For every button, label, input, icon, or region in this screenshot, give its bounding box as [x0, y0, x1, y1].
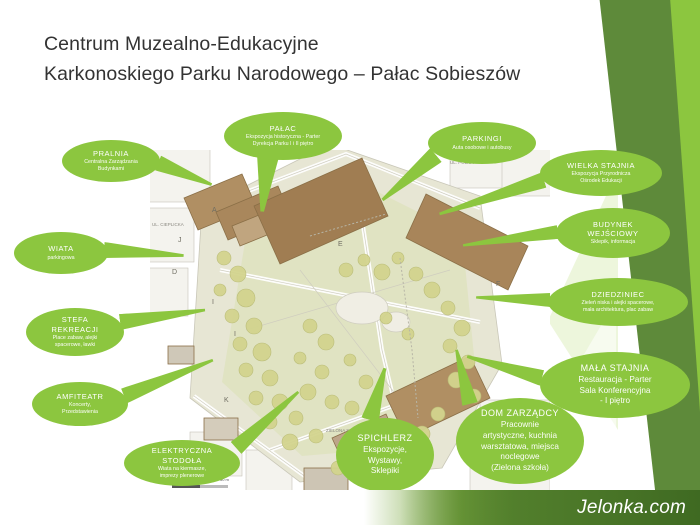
page-title-line-2: Karkonoskiego Parku Narodowego – Pałac S…: [44, 60, 604, 90]
callout-amfiteatr-bubble[interactable]: AMFITEATRKoncerty, Przedstawienia: [32, 382, 128, 426]
callout-dziedziniec-heading: DZIEDZINIEC: [591, 290, 644, 299]
svg-text:UL. CIEPLICKA: UL. CIEPLICKA: [152, 222, 184, 227]
callout-palac-heading: PAŁAC: [270, 124, 297, 133]
callout-elektryczna-stodola-bubble[interactable]: ELEKTRYCZNA STODOŁAWiata na kiermasze, i…: [124, 440, 240, 486]
svg-text:D: D: [172, 269, 177, 276]
callout-dom-zarzadcy-heading: DOM ZARZĄDCY: [481, 408, 559, 419]
svg-text:F: F: [496, 281, 500, 288]
callout-spichlerz-heading: SPICHLERZ: [357, 433, 412, 444]
callout-spichlerz-bubble[interactable]: SPICHLERZEkspozycje, Wystawy, Sklepiki: [336, 418, 434, 492]
watermark-text: Jelonka.com: [577, 497, 686, 519]
svg-text:A: A: [212, 207, 217, 214]
svg-text:K: K: [224, 397, 229, 404]
callout-pralnia-heading: PRALNIA: [93, 149, 129, 158]
callout-amfiteatr-heading: AMFITEATR: [57, 392, 104, 401]
callout-wiata-parkingowa-heading: WIATA: [48, 244, 73, 253]
callout-budynek-wejsciowy-heading: BUDYNEK WEJŚCIOWY: [587, 220, 638, 239]
svg-text:J: J: [178, 237, 182, 244]
callout-dziedziniec-subtitle: Zieleń niska i alejki spacerowe, mała ar…: [581, 300, 654, 314]
callout-elektryczna-stodola-heading: ELEKTRYCZNA STODOŁA: [152, 446, 213, 465]
callout-palac-subtitle: Ekspozycja historyczna - Parter Dyrekcja…: [246, 134, 320, 148]
callout-mala-stajnia-subtitle: Restauracja - Parter Sala Konferencyjna …: [578, 375, 651, 407]
callout-dom-zarzadcy-subtitle: Pracownie artystyczne, kuchnia warsztato…: [481, 420, 559, 473]
page-title: Centrum Muzealno-Edukacyjne Karkonoskieg…: [44, 30, 604, 89]
callout-wiata-parkingowa-bubble[interactable]: WIATAparkingowa: [14, 232, 108, 274]
callout-stefa-rekreacji-bubble[interactable]: STEFA REKREACJIPlace zabaw, alejki space…: [26, 308, 124, 356]
callout-budynek-wejsciowy-bubble[interactable]: BUDYNEK WEJŚCIOWYSklepik, informacja: [556, 208, 670, 258]
callout-dom-zarzadcy-bubble[interactable]: DOM ZARZĄDCYPracownie artystyczne, kuchn…: [456, 398, 584, 484]
callout-palac-bubble[interactable]: PAŁACEkspozycja historyczna - Parter Dyr…: [224, 112, 342, 160]
svg-text:I: I: [212, 299, 214, 306]
callout-mala-stajnia-heading: MAŁA STAJNIA: [581, 363, 650, 374]
callout-wielka-stajnia-heading: WIELKA STAJNIA: [567, 161, 635, 170]
callout-pralnia-bubble[interactable]: PRALNIACentralna Zarządzania Budynkami: [62, 140, 160, 182]
callout-stefa-rekreacji-heading: STEFA REKREACJI: [51, 315, 98, 334]
svg-text:I: I: [234, 331, 236, 338]
callout-wielka-stajnia-subtitle: Ekspozycja Przyrodnicza Ośrodek Edukacji: [572, 171, 631, 185]
callout-wiata-parkingowa-subtitle: parkingowa: [47, 255, 74, 262]
callout-pralnia-subtitle: Centralna Zarządzania Budynkami: [84, 159, 138, 173]
callout-amfiteatr-subtitle: Koncerty, Przedstawienia: [62, 402, 98, 416]
callout-budynek-wejsciowy-subtitle: Sklepik, informacja: [591, 239, 635, 246]
callout-spichlerz-subtitle: Ekspozycje, Wystawy, Sklepiki: [363, 445, 407, 477]
callout-wielka-stajnia-bubble[interactable]: WIELKA STAJNIAEkspozycja Przyrodnicza Oś…: [540, 150, 662, 196]
callout-dziedziniec-bubble[interactable]: DZIEDZINIECZieleń niska i alejki spacero…: [548, 278, 688, 326]
svg-text:E: E: [338, 241, 343, 248]
callout-parkingi-bubble[interactable]: PARKINGIAuta osobowe i autobusy: [428, 122, 536, 164]
callout-elektryczna-stodola-subtitle: Wiata na kiermasze, imprezy plenerowe: [158, 466, 206, 480]
callout-stefa-rekreacji-subtitle: Place zabaw, alejki spacerowe, ławki: [53, 335, 98, 349]
callout-parkingi-heading: PARKINGI: [462, 134, 502, 143]
page-title-line-1: Centrum Muzealno-Edukacyjne: [44, 30, 604, 60]
slide-canvas: Centrum Muzealno-Edukacyjne Karkonoskieg…: [0, 0, 700, 525]
callout-parkingi-subtitle: Auta osobowe i autobusy: [452, 145, 511, 152]
